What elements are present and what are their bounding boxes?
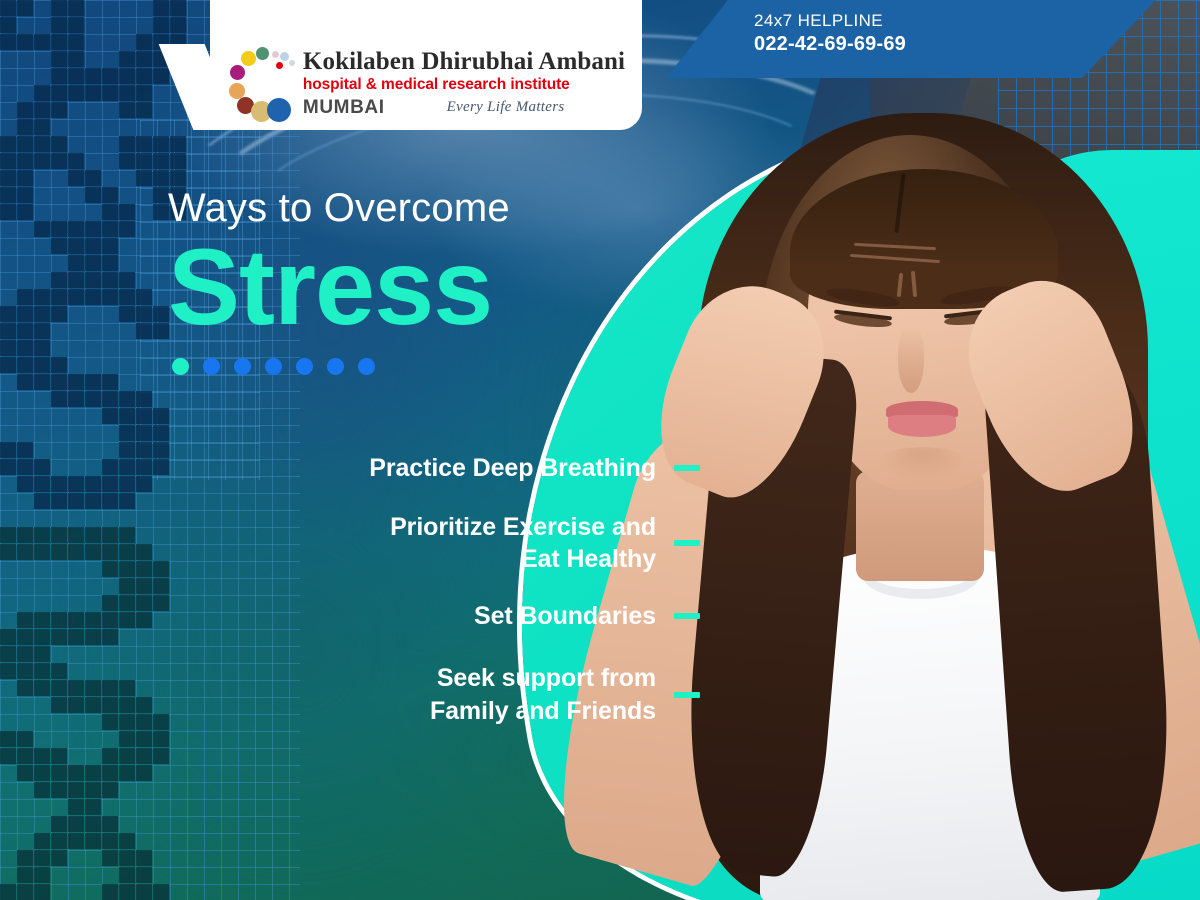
tip-dash-icon [674, 613, 700, 619]
logo-dot-grey-small-icon [289, 60, 295, 66]
pixel-tile [68, 255, 84, 271]
pixel-tile [102, 408, 118, 424]
pixel-tile [136, 306, 152, 322]
pixel-tile [34, 221, 50, 237]
pixel-tile [136, 68, 152, 84]
pixel-tile [136, 34, 152, 50]
pixel-tile [119, 221, 135, 237]
pixel-tile [0, 136, 16, 152]
pixel-tile [85, 187, 101, 203]
pixel-tile [51, 34, 67, 50]
pixel-tile [85, 782, 101, 798]
pixel-tile [119, 272, 135, 288]
pixel-tile [119, 102, 135, 118]
pixel-tile [0, 340, 16, 356]
pixel-tile [34, 153, 50, 169]
pixel-tile [68, 833, 84, 849]
pixel-tile [170, 170, 186, 186]
pixel-tile [102, 221, 118, 237]
helpline-banner[interactable]: 24x7 HELPLINE 022-42-69-69-69 [666, 0, 1156, 78]
pixel-tile [34, 323, 50, 339]
pixel-tile [119, 867, 135, 883]
pixel-tile [17, 306, 33, 322]
nose [898, 327, 924, 393]
pixel-tile [68, 289, 84, 305]
pixel-tile [34, 357, 50, 373]
pixel-tile [153, 323, 169, 339]
pixel-tile [68, 85, 84, 101]
headline-title: Stress [168, 232, 510, 342]
pixel-tile [34, 34, 50, 50]
pixel-tile [170, 136, 186, 152]
pixel-tile [136, 408, 152, 424]
lower-lip [888, 415, 956, 437]
pixel-tile [102, 782, 118, 798]
pixel-tile [51, 238, 67, 254]
pixel-tile [17, 170, 33, 186]
pixel-tile [136, 153, 152, 169]
pixel-tile [68, 238, 84, 254]
tip-dash-icon [674, 540, 700, 546]
logo-dot-pink-small-icon [272, 51, 279, 58]
pixel-tile [119, 85, 135, 101]
pixel-tile [17, 850, 33, 866]
logo-dot-lightblue-icon [280, 52, 289, 61]
pixel-tile [51, 357, 67, 373]
tip-label: Prioritize Exercise and Eat Healthy [390, 511, 656, 576]
pixel-tile [136, 765, 152, 781]
pixel-tile [85, 765, 101, 781]
pixel-tile [51, 289, 67, 305]
pixel-tile [34, 374, 50, 390]
pixel-tile [34, 85, 50, 101]
pixel-tile [119, 289, 135, 305]
pixel-tile [17, 867, 33, 883]
pixel-mosaic-lettering [0, 0, 190, 900]
pixel-tile [85, 85, 101, 101]
pixel-tile [68, 0, 84, 16]
pixel-tile [153, 884, 169, 900]
pixel-tile [0, 357, 16, 373]
pixel-tile [34, 102, 50, 118]
pixel-tile [119, 408, 135, 424]
pixel-tile [34, 136, 50, 152]
pixel-tile [136, 102, 152, 118]
pixel-tile [136, 884, 152, 900]
pixel-tile [119, 68, 135, 84]
pixel-tile [85, 170, 101, 186]
pixel-tile [17, 884, 33, 900]
dot-2-icon [203, 358, 220, 375]
pixel-tile [85, 238, 101, 254]
pixel-tile [68, 765, 84, 781]
pixel-tile [17, 340, 33, 356]
pixel-tile [51, 17, 67, 33]
logo-wordmark: Kokilaben Dhirubhai Ambani hospital & me… [303, 49, 625, 118]
logo-dot-blue-large-icon [267, 98, 291, 122]
list-item: Seek support from Family and Friends [0, 662, 700, 727]
pixel-tile [136, 136, 152, 152]
pixel-tile [0, 153, 16, 169]
pixel-tile [119, 833, 135, 849]
logo-red-dot-icon [276, 62, 283, 69]
pixel-tile [136, 867, 152, 883]
pixel-tile [119, 391, 135, 407]
pixel-tile [17, 204, 33, 220]
pixel-tile [51, 272, 67, 288]
pixel-tile [153, 0, 169, 16]
logo-city: MUMBAI [303, 98, 385, 117]
pixel-tile [51, 102, 67, 118]
pixel-tile [34, 340, 50, 356]
pixel-tile [68, 17, 84, 33]
pixel-tile [0, 17, 16, 33]
pixel-tile [34, 119, 50, 135]
header-logo-card: Kokilaben Dhirubhai Ambani hospital & me… [210, 0, 642, 130]
tip-dash-icon [674, 692, 700, 698]
pixel-tile [153, 425, 169, 441]
pixel-tile [17, 34, 33, 50]
pixel-tile [102, 187, 118, 203]
pixel-tile [102, 272, 118, 288]
headline-block: Ways to Overcome Stress [168, 188, 510, 375]
pixel-tile [51, 68, 67, 84]
dot-6-icon [327, 358, 344, 375]
pixel-tile [170, 17, 186, 33]
pixel-tile [119, 153, 135, 169]
dot-5-icon [296, 358, 313, 375]
pixel-tile [153, 17, 169, 33]
pixel-tile [85, 255, 101, 271]
pixel-tile [0, 34, 16, 50]
tip-label: Seek support from Family and Friends [430, 662, 656, 727]
pixel-tile [0, 306, 16, 322]
tip-label: Practice Deep Breathing [369, 452, 656, 485]
list-item: Set Boundaries [0, 600, 700, 633]
pixel-tile [119, 850, 135, 866]
pixel-tile [17, 374, 33, 390]
pixel-tile [68, 816, 84, 832]
pixel-tile [153, 68, 169, 84]
pixel-tile [0, 884, 16, 900]
helpline-label: 24x7 HELPLINE [754, 10, 1156, 31]
pixel-tile [102, 289, 118, 305]
pixel-tile [153, 408, 169, 424]
logo-dot-yellow-icon [241, 51, 256, 66]
pixel-tile [119, 884, 135, 900]
pixel-tile [51, 153, 67, 169]
pixel-tile [85, 272, 101, 288]
pixel-tile [102, 238, 118, 254]
pixel-tile [68, 374, 84, 390]
tip-label: Set Boundaries [474, 600, 656, 633]
pixel-tile [68, 799, 84, 815]
pixel-tile [136, 170, 152, 186]
pixel-tile [34, 884, 50, 900]
pixel-tile [34, 850, 50, 866]
pixel-tile [51, 391, 67, 407]
pixel-tile [51, 221, 67, 237]
pixel-tile [34, 765, 50, 781]
pixel-tile [17, 357, 33, 373]
pixel-tile [17, 0, 33, 16]
dot-7-icon [358, 358, 375, 375]
hospital-logo[interactable]: Kokilaben Dhirubhai Ambani hospital & me… [227, 44, 625, 122]
pixel-tile [34, 782, 50, 798]
pixel-tile [136, 51, 152, 67]
pixel-tile [119, 204, 135, 220]
pixel-tile [34, 833, 50, 849]
pixel-tile [136, 85, 152, 101]
pixel-tile [102, 391, 118, 407]
pixel-tile [0, 204, 16, 220]
pixel-tile [102, 884, 118, 900]
logo-subtitle: hospital & medical research institute [303, 77, 625, 93]
pixel-tile [153, 204, 169, 220]
pixel-tile [51, 51, 67, 67]
tips-list: Practice Deep Breathing Prioritize Exerc… [0, 452, 700, 755]
pixel-tile [119, 425, 135, 441]
pixel-tile [51, 782, 67, 798]
pixel-tile [136, 289, 152, 305]
pixel-tile [68, 391, 84, 407]
pixel-tile [34, 306, 50, 322]
pixel-tile [17, 289, 33, 305]
headline-subtitle: Ways to Overcome [168, 188, 510, 228]
pixel-tile [153, 306, 169, 322]
pixel-tile [85, 289, 101, 305]
pixel-tile [51, 833, 67, 849]
pixel-tile [102, 850, 118, 866]
pixel-tile [68, 153, 84, 169]
logo-dot-magenta-icon [230, 65, 245, 80]
pixel-tile [136, 425, 152, 441]
pixel-tile [136, 391, 152, 407]
pixel-tile [51, 136, 67, 152]
pixel-tile [17, 136, 33, 152]
pixel-tile [85, 391, 101, 407]
pixel-tile [51, 765, 67, 781]
pixel-tile [68, 68, 84, 84]
pixel-tile [85, 799, 101, 815]
pixel-tile [17, 765, 33, 781]
pixel-tile [0, 170, 16, 186]
pixel-tile [102, 833, 118, 849]
pixel-tile [85, 374, 101, 390]
pixel-tile [119, 136, 135, 152]
pixel-tile [85, 68, 101, 84]
chin [876, 447, 970, 481]
dot-4-icon [265, 358, 282, 375]
pixel-tile [17, 187, 33, 203]
pixel-tile [17, 119, 33, 135]
pixel-tile [102, 765, 118, 781]
pixel-tile [153, 170, 169, 186]
pixel-tile [102, 816, 118, 832]
pixel-tile [153, 153, 169, 169]
pixel-tile [51, 850, 67, 866]
pixel-tile [51, 374, 67, 390]
helpline-number[interactable]: 022-42-69-69-69 [754, 31, 1156, 57]
pixel-tile [51, 0, 67, 16]
pixel-tile [85, 221, 101, 237]
pixel-tile [34, 289, 50, 305]
pixel-tile [170, 0, 186, 16]
pixel-tile [102, 374, 118, 390]
logo-tagline: Every Life Matters [447, 100, 565, 115]
dot-1-icon [172, 358, 189, 375]
pixel-tile [68, 221, 84, 237]
pixel-tile [119, 765, 135, 781]
pixel-tile [68, 272, 84, 288]
tip-dash-icon [674, 465, 700, 471]
pixel-tile [119, 306, 135, 322]
pixel-tile [102, 85, 118, 101]
infographic-canvas: 24x7 HELPLINE 022-42-69-69-69 Kokilaben … [0, 0, 1200, 900]
logo-dot-green-icon [256, 47, 269, 60]
pixel-tile [0, 323, 16, 339]
decorative-dots-row [172, 358, 510, 375]
pixel-tile [0, 0, 16, 16]
pixel-tile [102, 68, 118, 84]
pixel-tile [102, 255, 118, 271]
pixel-tile [51, 816, 67, 832]
logo-name: Kokilaben Dhirubhai Ambani [303, 49, 625, 74]
pixel-tile [136, 850, 152, 866]
pixel-tile [119, 51, 135, 67]
dot-3-icon [234, 358, 251, 375]
pixel-tile [153, 187, 169, 203]
pixel-tile [51, 85, 67, 101]
pixel-tile [68, 782, 84, 798]
pixel-tile [17, 323, 33, 339]
pixel-tile [51, 306, 67, 322]
pixel-tile [170, 153, 186, 169]
logo-bottom-row: MUMBAI Every Life Matters [303, 98, 625, 117]
pixel-tile [68, 51, 84, 67]
logo-ring-icon [227, 44, 305, 122]
pixel-tile [34, 867, 50, 883]
list-item: Prioritize Exercise and Eat Healthy [0, 511, 700, 576]
pixel-tile [0, 187, 16, 203]
pixel-tile [68, 170, 84, 186]
list-item: Practice Deep Breathing [0, 452, 700, 485]
pixel-tile [85, 833, 101, 849]
pixel-tile [153, 136, 169, 152]
pixel-tile [68, 34, 84, 50]
pixel-tile [17, 102, 33, 118]
pixel-tile [102, 204, 118, 220]
pixel-tile [17, 153, 33, 169]
pixel-tile [136, 323, 152, 339]
woman-photo [640, 95, 1200, 900]
pixel-tile [85, 816, 101, 832]
